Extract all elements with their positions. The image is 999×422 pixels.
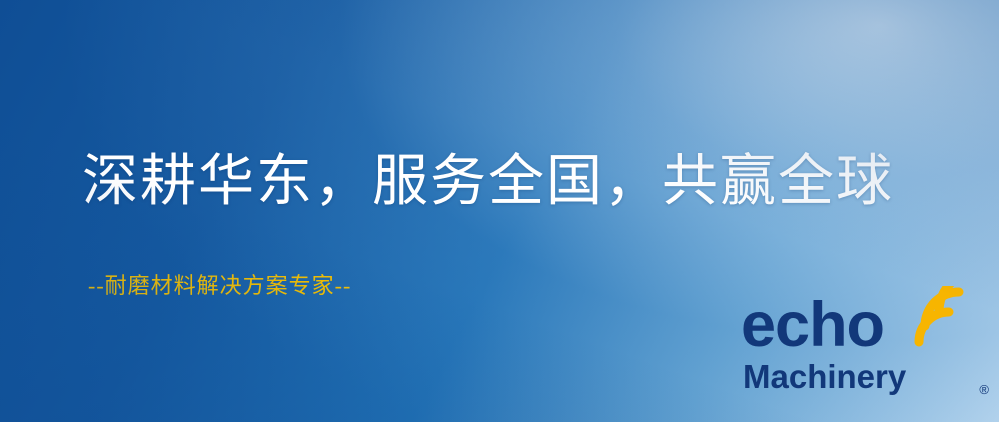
logo-secondary-text: Machinery (743, 360, 906, 393)
page-title: 深耕华东，服务全国，共赢全球 (82, 150, 894, 214)
wifi-arcs-icon (909, 286, 973, 348)
company-logo[interactable]: echo Machinery ® (741, 286, 991, 416)
logo-primary-text: echo (741, 294, 884, 357)
page-subtitle: --耐磨材料解决方案专家-- (88, 268, 351, 300)
hero-banner: 深耕华东，服务全国，共赢全球 --耐磨材料解决方案专家-- echo Machi… (0, 0, 999, 422)
registered-trademark-mark: ® (979, 382, 989, 397)
